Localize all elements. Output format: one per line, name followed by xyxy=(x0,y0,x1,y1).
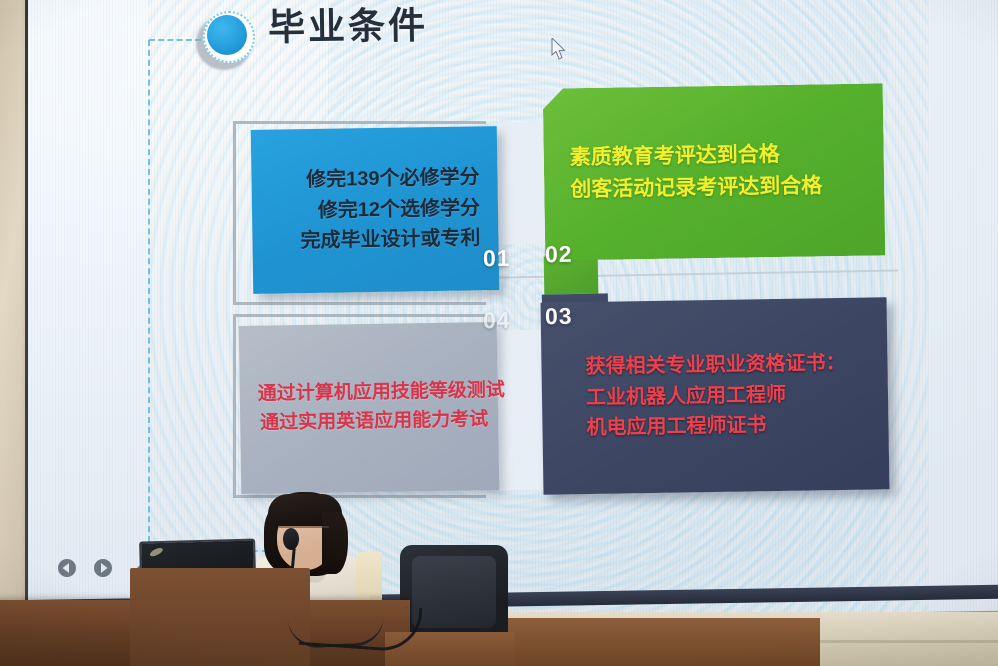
office-chair-cushion xyxy=(412,556,496,628)
room-wall xyxy=(0,0,30,620)
title-bullet-icon xyxy=(194,8,260,74)
podium-front-panel xyxy=(130,568,310,666)
panel-01-line-1: 修完139个必修学分 xyxy=(281,163,485,197)
panel-04-line-1: 通过计算机应用技能等级测试 xyxy=(258,377,490,410)
slide-content: 毕业条件 修完139个必修学分 修完12个选修学分 完成毕业设计或专利 xyxy=(28,0,998,626)
next-slide-icon[interactable] xyxy=(92,557,114,579)
projected-slide-photo: 毕业条件 修完139个必修学分 修完12个选修学分 完成毕业设计或专利 xyxy=(0,0,998,666)
panel-04-line-2: 通过实用英语应用能力考试 xyxy=(258,406,490,439)
laptop-screen-glint xyxy=(149,546,164,558)
presenter-hair-side xyxy=(322,512,348,574)
panel-number-03: 03 xyxy=(545,303,573,330)
panel-02-line-2: 创客活动记录考评达到合格 xyxy=(570,170,870,207)
microphone-head xyxy=(283,528,299,550)
panel-01-line-3: 完成毕业设计或专利 xyxy=(282,223,486,257)
panel-03-line-3: 机电应用工程师证书 xyxy=(586,409,876,444)
previous-slide-icon[interactable] xyxy=(56,557,78,579)
panel-number-02: 02 xyxy=(545,241,573,268)
slide-panel-02: 素质教育考评达到合格 创客活动记录考评达到合格 xyxy=(543,83,886,260)
page-title: 毕业条件 xyxy=(268,0,429,51)
panel-02-line-1: 素质教育考评达到合格 xyxy=(570,138,870,175)
panel-number-01: 01 xyxy=(483,245,511,272)
slide-panel-01: 修完139个必修学分 修完12个选修学分 完成毕业设计或专利 xyxy=(251,126,500,294)
mouse-cursor-icon xyxy=(551,38,567,60)
panel-notch-upper xyxy=(497,122,545,245)
panel-number-04: 04 xyxy=(483,307,511,334)
panel-01-line-2: 修完12个选修学分 xyxy=(282,193,486,227)
panel-03-line-2: 工业机器人应用工程师 xyxy=(586,378,876,413)
panel-notch-lower xyxy=(497,330,544,491)
slide-panel-03: 获得相关专业职业资格证书： 工业机器人应用工程师 机电应用工程师证书 xyxy=(541,297,890,494)
panel-03-line-1: 获得相关专业职业资格证书： xyxy=(585,348,875,383)
projection-screen: 毕业条件 修完139个必修学分 修完12个选修学分 完成毕业设计或专利 xyxy=(28,0,998,626)
dashed-connector-vertical xyxy=(148,40,150,552)
slide-panel-04: 通过计算机应用技能等级测试 通过实用英语应用能力考试 xyxy=(239,322,500,494)
dashed-connector-top xyxy=(149,39,201,41)
